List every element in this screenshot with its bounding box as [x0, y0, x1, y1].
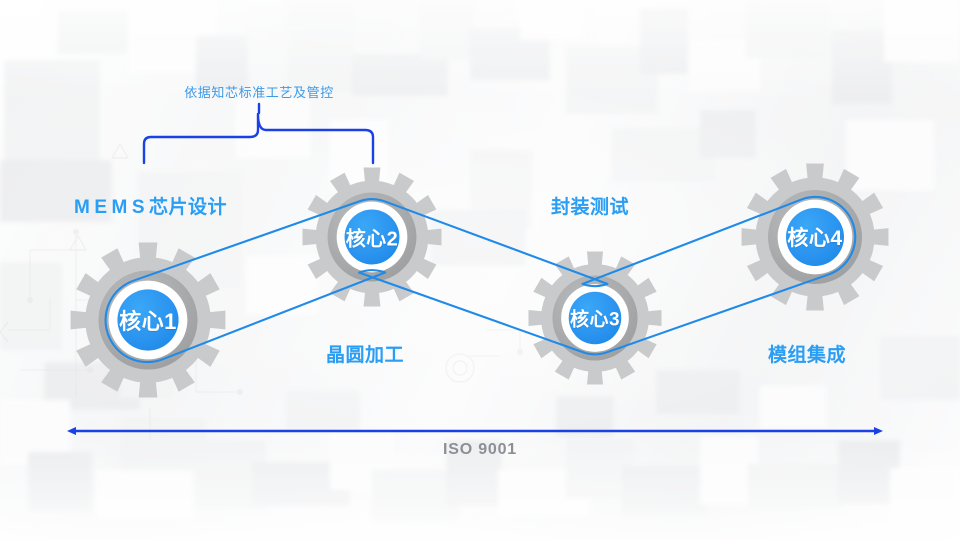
gear-core-label-1: 核心1: [119, 304, 177, 336]
stage-label-1: MEMS芯片设计: [74, 198, 227, 217]
belt-loop: [106, 197, 856, 362]
gear-chain-diagram: [0, 0, 960, 540]
slide-canvas: 依据知芯标准工艺及管控 MEMS芯片设计晶圆加工封装测试模组集成 核心1核心2核…: [0, 0, 960, 540]
stage-label-3: 封装测试: [551, 198, 629, 217]
stage-label-suffix: 芯片设计: [149, 197, 227, 218]
iso-standard-label: ISO 9001: [443, 442, 517, 458]
gear-core-label-3: 核心3: [570, 305, 620, 332]
process-brace: [144, 104, 373, 163]
belt-chain: [106, 197, 856, 362]
brace-caption: 依据知芯标准工艺及管控: [184, 86, 334, 99]
stage-label-4: 模组集成: [768, 346, 846, 365]
stage-label-prefix: MEMS: [74, 197, 149, 218]
stage-label-2: 晶圆加工: [326, 346, 404, 365]
gear-core-label-4: 核心4: [787, 222, 842, 252]
gear-core-label-2: 核心2: [346, 223, 399, 252]
